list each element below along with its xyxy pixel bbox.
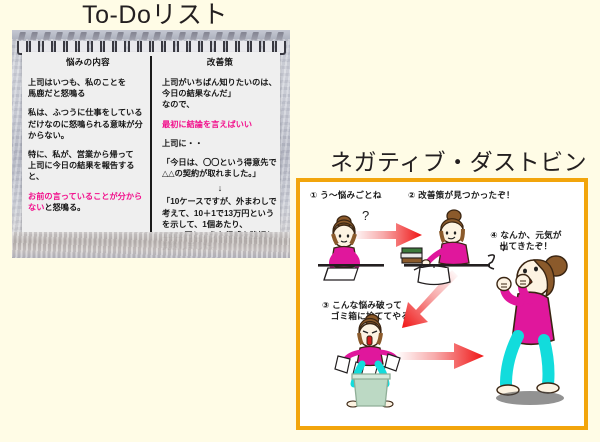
caption-step-2: ② 改善策が見つかったぞ！	[408, 190, 515, 201]
paragraph: 特に、私が、営業から帰って上司に今日の結果を報告すると、	[28, 149, 148, 183]
notebook-photo: 悩みの内容 上司はいつも、私のことを馬鹿だと怒鳴る私は、ふつうに仕事をしているだ…	[12, 30, 290, 258]
column-heading-problems: 悩みの内容	[28, 56, 148, 68]
column-problems: 悩みの内容 上司はいつも、私のことを馬鹿だと怒鳴る私は、ふつうに仕事をしているだ…	[28, 56, 148, 221]
page-column-divider	[150, 56, 152, 232]
notebook-page: 悩みの内容 上司はいつも、私のことを馬鹿だと怒鳴る私は、ふつうに仕事をしているだ…	[22, 52, 280, 234]
page-title-dustbin: ネガティブ・ダストビン	[330, 146, 590, 178]
caption-step-1: ① う〜悩みごとね	[310, 190, 382, 201]
paragraph: お前の言っていることが分からないと怒鳴る。	[28, 191, 148, 213]
paragraph: 上司に・・	[162, 138, 278, 149]
column-solutions: 改善策 上司がいちばん知りたいのは、今日の結果なんだ」なので、最初に結論を言えば…	[162, 56, 278, 258]
highlighted-text: お前の言っていることが分からない	[28, 192, 142, 212]
column-heading-solutions: 改善策	[162, 56, 278, 68]
figure-tearing-paper-over-bin	[328, 312, 420, 420]
poster-canvas: To-Doリスト 悩みの内容 上司はいつも、私のことを馬鹿だと怒鳴る私は、ふつう…	[0, 0, 600, 442]
paragraph: 最初に結論を言えばいい	[162, 119, 278, 130]
figure-worried-at-desk: ?	[316, 204, 402, 290]
paragraph: ↓	[162, 183, 278, 193]
svg-text:?: ?	[362, 208, 369, 223]
paragraph: 上司はいつも、私のことを馬鹿だと怒鳴る	[28, 77, 148, 99]
negative-dustbin-panel: ① う〜悩みごとね ② 改善策が見つかったぞ！ ③ こんな悩み破って ゴミ箱に捨…	[296, 178, 588, 430]
column-body-problems: 上司はいつも、私のことを馬鹿だと怒鳴る私は、ふつうに仕事をしているだけなのに怒鳴…	[28, 77, 148, 213]
page-title-todo: To-Doリスト	[55, 0, 255, 30]
paragraph: 「今日は、〇〇という得意先で△△の契約が取れました。」	[162, 157, 278, 179]
paragraph: 上司がいちばん知りたいのは、今日の結果なんだ」なので、	[162, 77, 278, 111]
notebook-desk-front-edge	[12, 232, 290, 258]
figure-energized-cheering	[482, 244, 586, 420]
column-body-solutions: 上司がいちばん知りたいのは、今日の結果なんだ」なので、最初に結論を言えばいい上司…	[162, 77, 278, 252]
paragraph: 私は、ふつうに仕事をしているだけなのに怒鳴られる意味が分からない。	[28, 107, 148, 141]
